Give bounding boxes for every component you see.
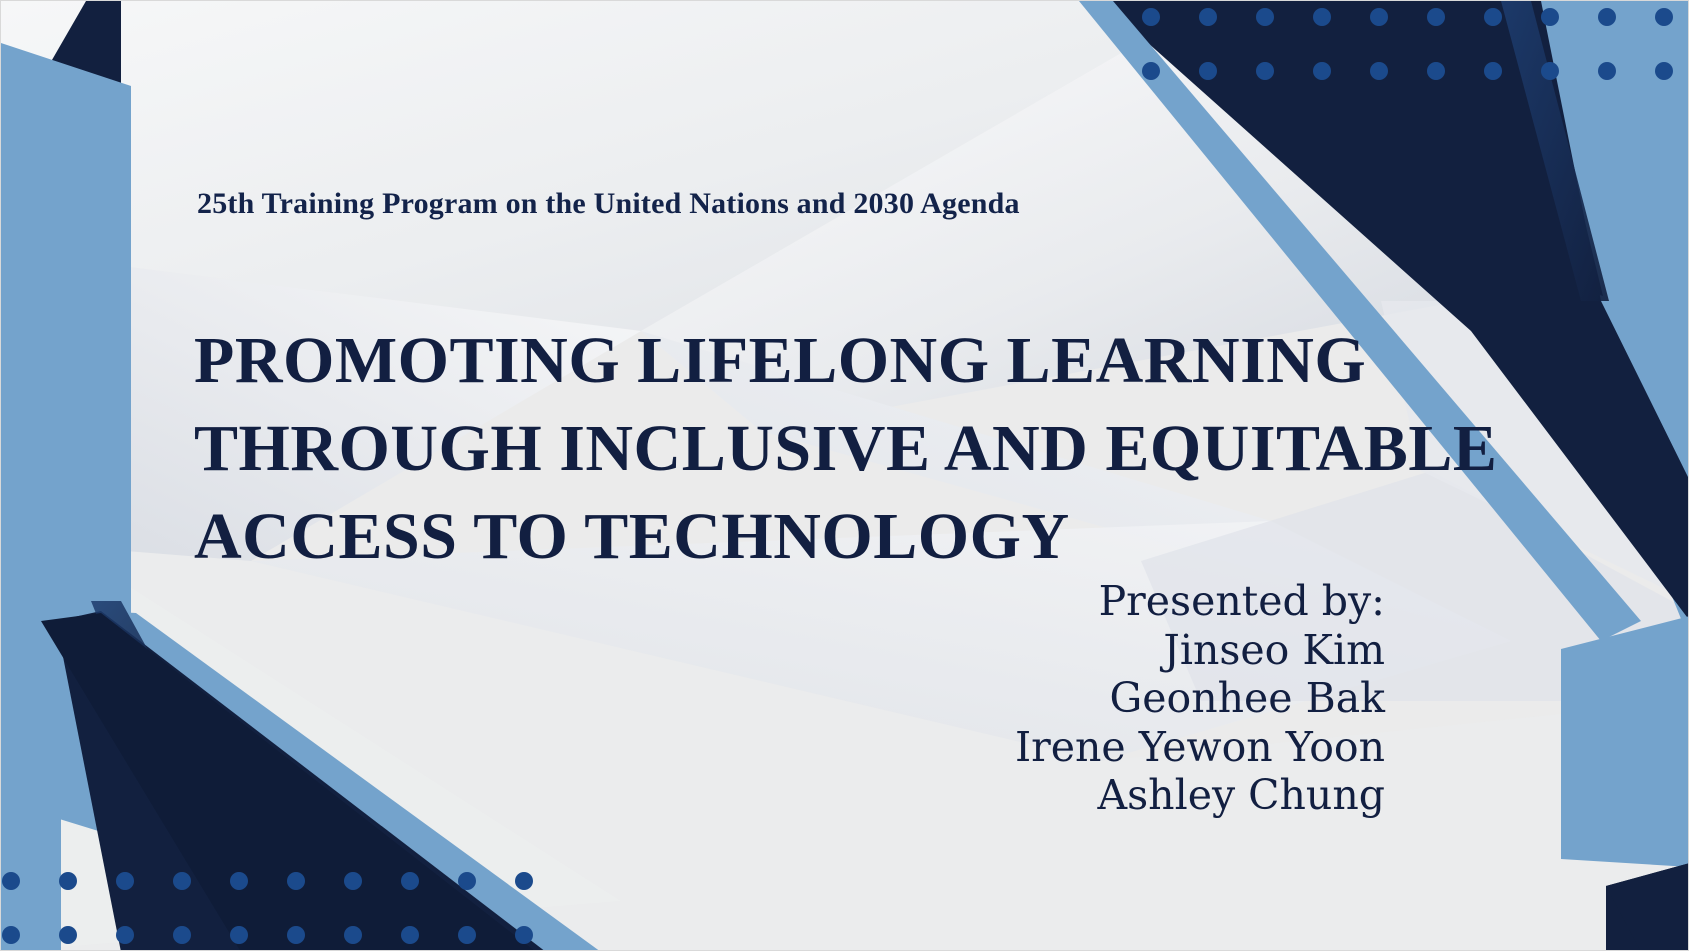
title-line-3: ACCESS TO TECHNOLOGY	[194, 493, 1404, 581]
presentation-slide: 25th Training Program on the United Nati…	[0, 0, 1689, 951]
presenter-name: Ashley Chung	[1015, 771, 1385, 820]
presenter-block: Presented by: Jinseo Kim Geonhee Bak Ire…	[1015, 577, 1385, 820]
presenter-name: Irene Yewon Yoon	[1015, 723, 1385, 772]
presenter-name: Geonhee Bak	[1015, 674, 1385, 723]
presented-by-label: Presented by:	[1015, 577, 1385, 626]
title-line-2: THROUGH INCLUSIVE AND EQUITABLE	[194, 405, 1404, 493]
slide-text-layer: 25th Training Program on the United Nati…	[1, 1, 1689, 951]
presenter-name: Jinseo Kim	[1015, 626, 1385, 675]
program-subtitle: 25th Training Program on the United Nati…	[197, 187, 1020, 221]
title-line-1: PROMOTING LIFELONG LEARNING	[194, 317, 1404, 405]
page-title: PROMOTING LIFELONG LEARNING THROUGH INCL…	[194, 317, 1404, 581]
